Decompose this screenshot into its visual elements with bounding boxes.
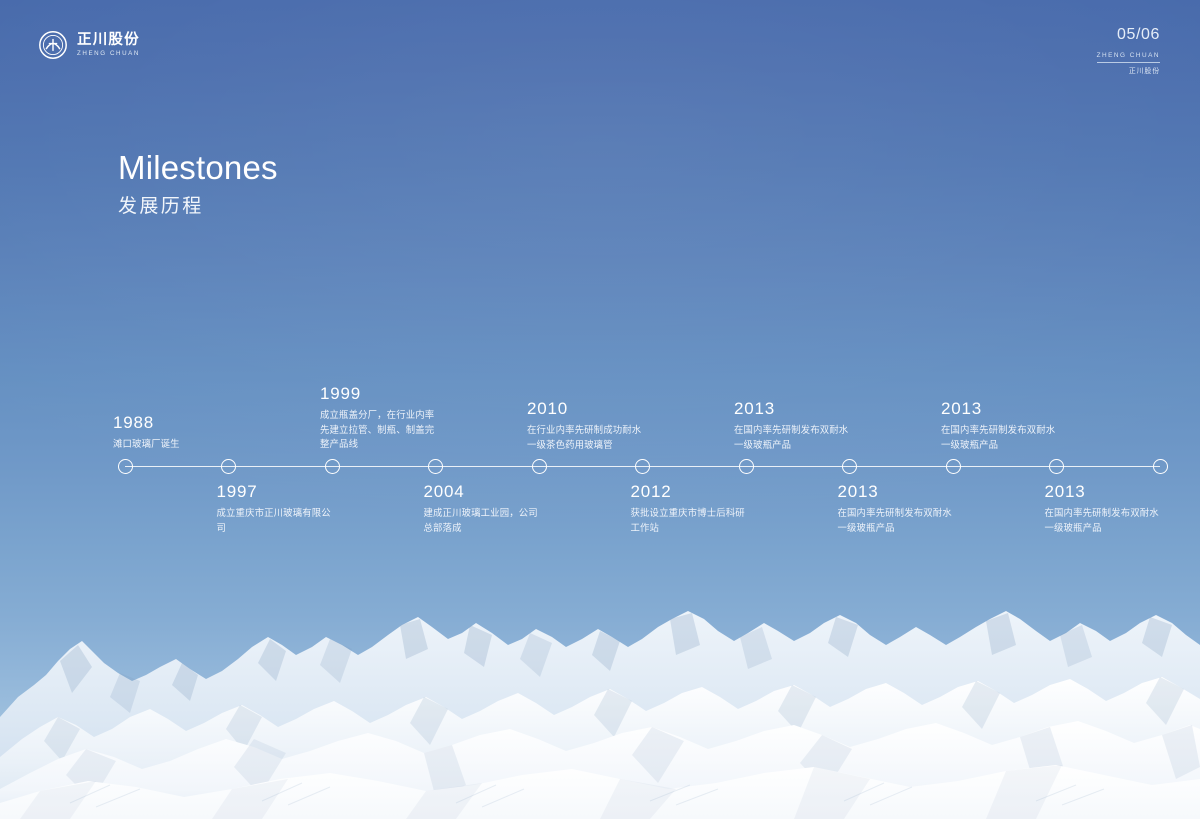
timeline-node[interactable] (428, 459, 443, 474)
timeline-entry-year: 2013 (734, 398, 852, 420)
timeline-entry[interactable]: 2013在国内率先研制发布双耐水一级玻瓶产品 (1045, 481, 1163, 535)
timeline-entry-year: 2013 (838, 481, 956, 503)
zhengchuan-circular-logo-icon (38, 30, 68, 60)
timeline-node[interactable] (1153, 459, 1168, 474)
slide-canvas: 正川股份 ZHENG CHUAN 05/06 ZHENG CHUAN 正川股份 … (0, 0, 1200, 819)
timeline-entry-year: 2013 (941, 398, 1059, 420)
timeline-entry-description: 建成正川玻璃工业园，公司总部落成 (424, 506, 542, 535)
timeline-entry[interactable]: 1988滩口玻璃厂诞生 (113, 412, 231, 452)
page-title: Milestones 发展历程 (118, 148, 278, 221)
timeline-entry[interactable]: 2013在国内率先研制发布双耐水一级玻瓶产品 (838, 481, 956, 535)
timeline-node[interactable] (532, 459, 547, 474)
timeline-entry[interactable]: 2013在国内率先研制发布双耐水一级玻瓶产品 (941, 398, 1059, 452)
timeline-entry[interactable]: 2010在行业内率先研制成功耐水一级茶色药用玻璃管 (527, 398, 645, 452)
timeline-node[interactable] (221, 459, 236, 474)
logo-text-cn: 正川股份 (77, 33, 140, 48)
timeline-entry[interactable]: 1997成立重庆市正川玻璃有限公司 (217, 481, 335, 535)
timeline-entry-year: 2004 (424, 481, 542, 503)
page-brand-cn: 正川股份 (1097, 66, 1160, 77)
timeline-entry-description: 在国内率先研制发布双耐水一级玻瓶产品 (734, 423, 852, 452)
timeline-node[interactable] (118, 459, 133, 474)
timeline-entry-year: 1988 (113, 412, 231, 434)
page-indicator: 05/06 ZHENG CHUAN 正川股份 (1097, 26, 1160, 77)
timeline-entry-year: 2012 (631, 481, 749, 503)
timeline-node[interactable] (325, 459, 340, 474)
timeline-node[interactable] (739, 459, 754, 474)
timeline-entry-description: 成立瓶盖分厂，在行业内率先建立拉管、制瓶、制盖完整产品线 (320, 408, 438, 452)
timeline-entry-description: 在国内率先研制发布双耐水一级玻瓶产品 (1045, 506, 1163, 535)
timeline-node[interactable] (635, 459, 650, 474)
timeline-entry-description: 成立重庆市正川玻璃有限公司 (217, 506, 335, 535)
timeline-entry-description: 在国内率先研制发布双耐水一级玻瓶产品 (941, 423, 1059, 452)
brand-logo: 正川股份 ZHENG CHUAN (38, 30, 140, 60)
timeline-entry-description: 在行业内率先研制成功耐水一级茶色药用玻璃管 (527, 423, 645, 452)
timeline-node[interactable] (946, 459, 961, 474)
timeline-entry-year: 2010 (527, 398, 645, 420)
page-number: 05/06 (1097, 26, 1160, 44)
title-chinese: 发展历程 (118, 193, 278, 221)
timeline-entry[interactable]: 1999成立瓶盖分厂，在行业内率先建立拉管、制瓶、制盖完整产品线 (320, 383, 438, 452)
mountain-range-image (0, 589, 1200, 819)
timeline-node[interactable] (842, 459, 857, 474)
timeline-entry[interactable]: 2004建成正川玻璃工业园，公司总部落成 (424, 481, 542, 535)
page-brand-en: ZHENG CHUAN (1097, 51, 1160, 63)
timeline-entry[interactable]: 2013在国内率先研制发布双耐水一级玻瓶产品 (734, 398, 852, 452)
timeline-entry-description: 获批设立重庆市博士后科研工作站 (631, 506, 749, 535)
timeline-entry-description: 滩口玻璃厂诞生 (113, 437, 231, 452)
timeline-node[interactable] (1049, 459, 1064, 474)
timeline-entry-year: 1997 (217, 481, 335, 503)
logo-text-en: ZHENG CHUAN (77, 49, 140, 58)
timeline-entry[interactable]: 2012获批设立重庆市博士后科研工作站 (631, 481, 749, 535)
timeline-entry-description: 在国内率先研制发布双耐水一级玻瓶产品 (838, 506, 956, 535)
timeline-entry-year: 2013 (1045, 481, 1163, 503)
timeline-entry-year: 1999 (320, 383, 438, 405)
title-english: Milestones (118, 148, 278, 188)
